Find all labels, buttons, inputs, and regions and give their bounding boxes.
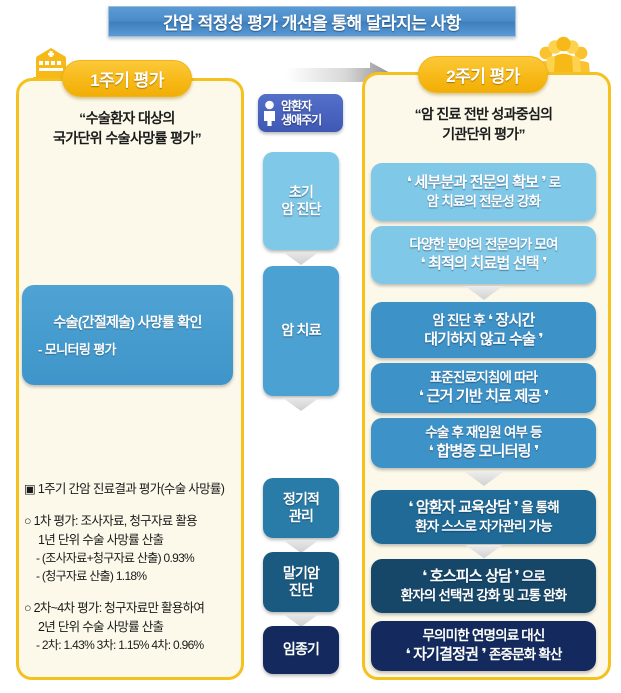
benefit-line-1: 무의미한 연명의료 대신: [422, 627, 544, 645]
lifecycle-stage-label: 암 치료: [281, 322, 320, 340]
right-panel-quote: “암 진료 전반 성과중심의 기관단위 평가”: [368, 104, 599, 145]
cancer-lifecycle-header-label: 암환자 생애주기: [281, 99, 321, 128]
benefit-line-2: 환자의 선택권 강화 및 고통 완화: [401, 587, 567, 605]
stats-g2-line-1: ○ 2차~4차 평가: 청구자료만 활용하여: [24, 597, 232, 616]
right-panel-header-pill: 2주기 평가: [418, 56, 548, 93]
lifecycle-chevron-2: [283, 398, 319, 411]
stats-g1-line-2: 1년 단위 수술 사망률 산출: [24, 529, 232, 548]
benefit-line-1: ❛ 세부분과 전문의 확보 ❜ 로: [407, 173, 561, 193]
benefit-line-1: ❛ 호스피스 상담 ❜ 으로: [422, 567, 545, 587]
stats-g1-line-1: ○ 1차 평가: 조사자료, 청구자료 활용: [24, 510, 232, 529]
lifecycle-header-line-1: 암환자: [281, 99, 311, 113]
benefit-line-2: 환자 스스로 자가관리 가능: [415, 518, 552, 536]
benefit-box-2[interactable]: 다양한 분야의 전문의가 모여❛ 최적의 치료법 선택 ❜: [371, 226, 596, 284]
benefit-line-1: 암 진단 후 ❛ 장시간: [432, 311, 534, 331]
benefit-box-4[interactable]: 표준진료지침에 따라❛ 근거 기반 치료 제공 ❜: [371, 363, 596, 413]
left-quote-line-2: 국가단위 수술사망률 평가”: [24, 128, 230, 148]
stats-g1-line-3: - (조사자료+청구자료 산출) 0.93%: [24, 549, 232, 566]
stats-heading: ▣ 1주기 간암 진료결과 평가(수술 사망률): [24, 478, 232, 497]
left-measure-box: 수술(간절제술) 사망률 확인 - 모니터링 평가: [22, 285, 233, 385]
stats-g2-line-3: - 2차: 1.43% 3차: 1.15% 4차: 0.96%: [24, 636, 232, 653]
benefit-line-2: 대기하지 않고 수술 ❜: [424, 330, 543, 350]
benefit-line-1: 다양한 분야의 전문의가 모여: [409, 236, 557, 254]
page-title-text: 간암 적정성 평가 개선을 통해 달라지는 사항: [163, 9, 461, 34]
lifecycle-stage-5[interactable]: 임종기: [263, 626, 339, 674]
lifecycle-header-line-2: 생애주기: [281, 113, 321, 127]
benefit-line-1: 표준진료지침에 따라: [430, 369, 538, 387]
benefit-line-1: ❛ 암환자 교육상담 ❜ 을 통해: [408, 498, 559, 518]
left-panel-header-label: 1주기 평가: [90, 66, 164, 91]
benefit-line-2: 암 치료의 전문성 강화: [427, 193, 540, 211]
stats-group-2: ○ 2차~4차 평가: 청구자료만 활용하여 2년 단위 수술 사망률 산출 -…: [24, 597, 232, 653]
lifecycle-stage-3[interactable]: 정기적관리: [263, 478, 339, 538]
stats-g2-line-2: 2년 단위 수술 사망률 산출: [24, 616, 232, 635]
stats-g1-line-4: - (청구자료 산출) 1.18%: [24, 567, 232, 584]
benefit-line-1: 수술 후 재입원 여부 등: [425, 424, 541, 442]
left-panel-header-pill: 1주기 평가: [62, 60, 192, 97]
benefit-line-2: ❛ 근거 기반 치료 제공 ❜: [419, 387, 549, 407]
cancer-lifecycle-header: 암환자 생애주기: [258, 94, 343, 132]
lifecycle-stage-1[interactable]: 초기암 진단: [263, 152, 339, 250]
benefit-box-6[interactable]: ❛ 암환자 교육상담 ❜ 을 통해환자 스스로 자가관리 가능: [371, 490, 596, 544]
benefit-box-5[interactable]: 수술 후 재입원 여부 등❛ 합병증 모니터링 ❜: [371, 418, 596, 468]
left-measure-sub: - 모니터링 평가: [22, 339, 233, 358]
infographic-root: 간암 적정성 평가 개선을 통해 달라지는 사항: [0, 0, 621, 693]
lifecycle-stage-label: 임종기: [283, 641, 319, 659]
lifecycle-chevron-1: [283, 252, 319, 265]
stats-group-1: ○ 1차 평가: 조사자료, 청구자료 활용 1년 단위 수술 사망률 산출 -…: [24, 510, 232, 584]
benefit-box-3[interactable]: 암 진단 후 ❛ 장시간대기하지 않고 수술 ❜: [371, 302, 596, 358]
lifecycle-stage-label: 말기암진단: [283, 565, 319, 600]
lifecycle-stage-2[interactable]: 암 치료: [263, 266, 339, 396]
left-statistics-block: ▣ 1주기 간암 진료결과 평가(수술 사망률) ○ 1차 평가: 조사자료, …: [24, 478, 232, 653]
left-quote-line-1: “수술환자 대상의: [24, 108, 230, 128]
benefit-box-1[interactable]: ❛ 세부분과 전문의 확보 ❜ 로암 치료의 전문성 강화: [371, 163, 596, 221]
right-quote-line-2: 기관단위 평가”: [368, 124, 599, 144]
benefit-line-2: ❛ 자기결정권 ❜ 존중문화 확산: [405, 645, 561, 665]
lifecycle-stage-label: 정기적관리: [283, 491, 319, 526]
page-title: 간암 적정성 평가 개선을 통해 달라지는 사항: [108, 6, 516, 37]
benefit-box-7[interactable]: ❛ 호스피스 상담 ❜ 으로환자의 선택권 강화 및 고통 완화: [371, 559, 596, 613]
right-panel-header-label: 2주기 평가: [446, 62, 520, 87]
benefit-box-8[interactable]: 무의미한 연명의료 대신❛ 자기결정권 ❜ 존중문화 확산: [371, 621, 596, 671]
patient-person-icon: [258, 100, 281, 126]
lifecycle-stage-4[interactable]: 말기암진단: [263, 552, 339, 612]
benefit-line-2: ❛ 합병증 모니터링 ❜: [429, 442, 539, 462]
benefit-line-2: ❛ 최적의 치료법 선택 ❜: [420, 254, 546, 274]
right-quote-line-1: “암 진료 전반 성과중심의: [368, 104, 599, 124]
lifecycle-stage-label: 초기암 진단: [281, 184, 320, 219]
left-panel-quote: “수술환자 대상의 국가단위 수술사망률 평가”: [24, 108, 230, 149]
left-measure-main: 수술(간절제술) 사망률 확인: [22, 312, 233, 332]
